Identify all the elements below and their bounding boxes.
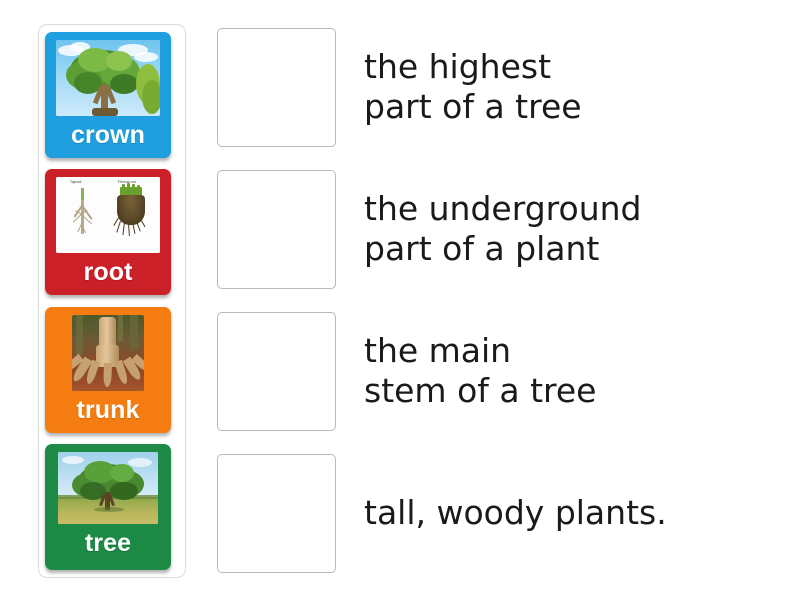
match-row-2: the underground part of a plant bbox=[217, 166, 777, 292]
dropzone-2[interactable] bbox=[217, 170, 336, 289]
root-caption-taproot: Taproot bbox=[70, 180, 81, 184]
dropzone-1[interactable] bbox=[217, 28, 336, 147]
tile-label-tree: tree bbox=[85, 531, 131, 556]
definition-2: the underground part of a plant bbox=[364, 189, 641, 270]
tile-crown[interactable]: crown bbox=[45, 32, 171, 158]
match-row-3: the main stem of a tree bbox=[217, 308, 777, 434]
crown-image bbox=[56, 40, 160, 116]
match-row-4: tall, woody plants. bbox=[217, 450, 777, 576]
tile-root[interactable]: Taproot Fibrous root bbox=[45, 169, 171, 295]
definition-4: tall, woody plants. bbox=[364, 493, 667, 533]
tile-label-crown: crown bbox=[71, 123, 145, 148]
dropzone-4[interactable] bbox=[217, 454, 336, 573]
tree-image bbox=[58, 452, 158, 524]
tile-tree[interactable]: tree bbox=[45, 444, 171, 570]
dropzone-3[interactable] bbox=[217, 312, 336, 431]
definition-1: the highest part of a tree bbox=[364, 47, 582, 128]
match-up-activity: crown Taproot Fibrous root bbox=[0, 0, 800, 600]
trunk-image bbox=[72, 315, 144, 391]
root-image: Taproot Fibrous root bbox=[56, 177, 160, 253]
match-row-1: the highest part of a tree bbox=[217, 24, 777, 150]
match-rows: the highest part of a tree the undergrou… bbox=[217, 24, 777, 578]
tile-label-trunk: trunk bbox=[77, 398, 140, 423]
draggable-tiles-panel: crown Taproot Fibrous root bbox=[38, 24, 186, 578]
definition-3: the main stem of a tree bbox=[364, 331, 596, 412]
tile-label-root: root bbox=[84, 260, 133, 285]
tile-trunk[interactable]: trunk bbox=[45, 307, 171, 433]
